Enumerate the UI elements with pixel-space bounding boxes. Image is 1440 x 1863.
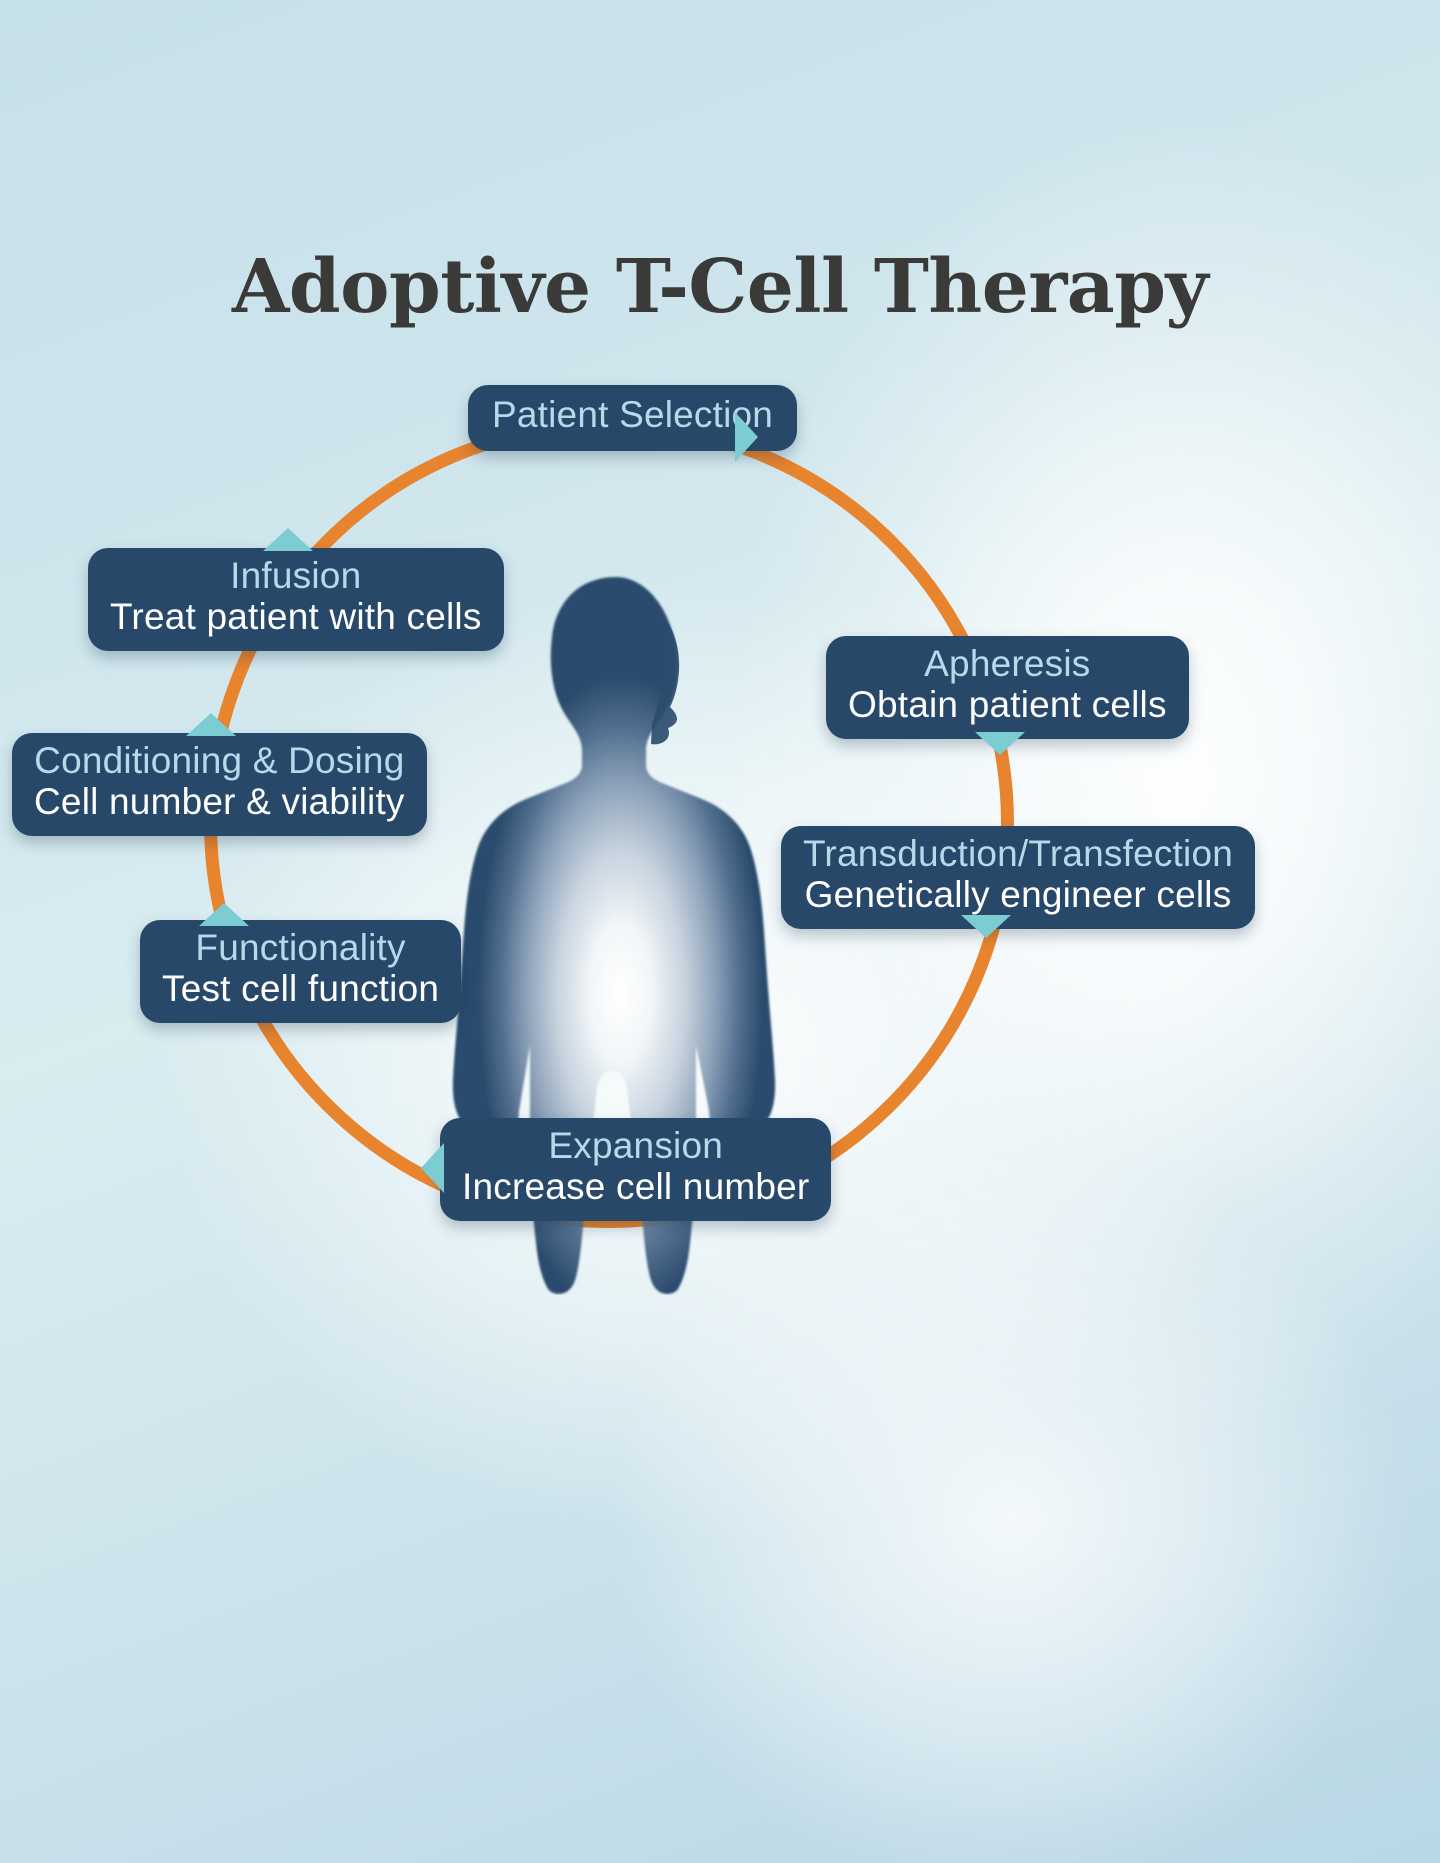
step-node-apheresis[interactable]: Apheresis Obtain patient cells — [826, 636, 1189, 739]
step-heading-conditioning: Conditioning & Dosing — [34, 742, 405, 781]
arrow-marker-up-icon — [186, 713, 236, 736]
step-heading-apheresis: Apheresis — [848, 645, 1167, 684]
step-node-transduction[interactable]: Transduction/Transfection Genetically en… — [781, 826, 1255, 929]
page-title: Adoptive T-Cell Therapy — [0, 244, 1440, 330]
step-description-infusion: Treat patient with cells — [110, 598, 482, 637]
step-node-expansion[interactable]: Expansion Increase cell number — [440, 1118, 831, 1221]
infographic-poster: Adoptive T-Cell Therapy — [0, 0, 1440, 1863]
step-heading-expansion: Expansion — [462, 1127, 809, 1166]
step-description-expansion: Increase cell number — [462, 1168, 809, 1207]
arrow-marker-down-icon — [961, 915, 1011, 938]
arrow-marker-up-icon — [263, 528, 313, 551]
step-heading-functionality: Functionality — [162, 929, 439, 968]
step-heading-transduction: Transduction/Transfection — [803, 835, 1233, 874]
arrow-marker-left-icon — [421, 1143, 444, 1193]
step-node-functionality[interactable]: Functionality Test cell function — [140, 920, 461, 1023]
step-heading-patient-selection: Patient Selection — [492, 396, 773, 435]
step-heading-infusion: Infusion — [110, 557, 482, 596]
arrow-marker-right-icon — [735, 412, 758, 462]
arrow-marker-up-icon — [199, 903, 249, 926]
step-description-transduction: Genetically engineer cells — [803, 876, 1233, 915]
step-node-conditioning[interactable]: Conditioning & Dosing Cell number & viab… — [12, 733, 427, 836]
step-description-functionality: Test cell function — [162, 970, 439, 1009]
step-description-conditioning: Cell number & viability — [34, 783, 405, 822]
step-node-infusion[interactable]: Infusion Treat patient with cells — [88, 548, 504, 651]
arrow-marker-down-icon — [975, 732, 1025, 755]
step-description-apheresis: Obtain patient cells — [848, 686, 1167, 725]
